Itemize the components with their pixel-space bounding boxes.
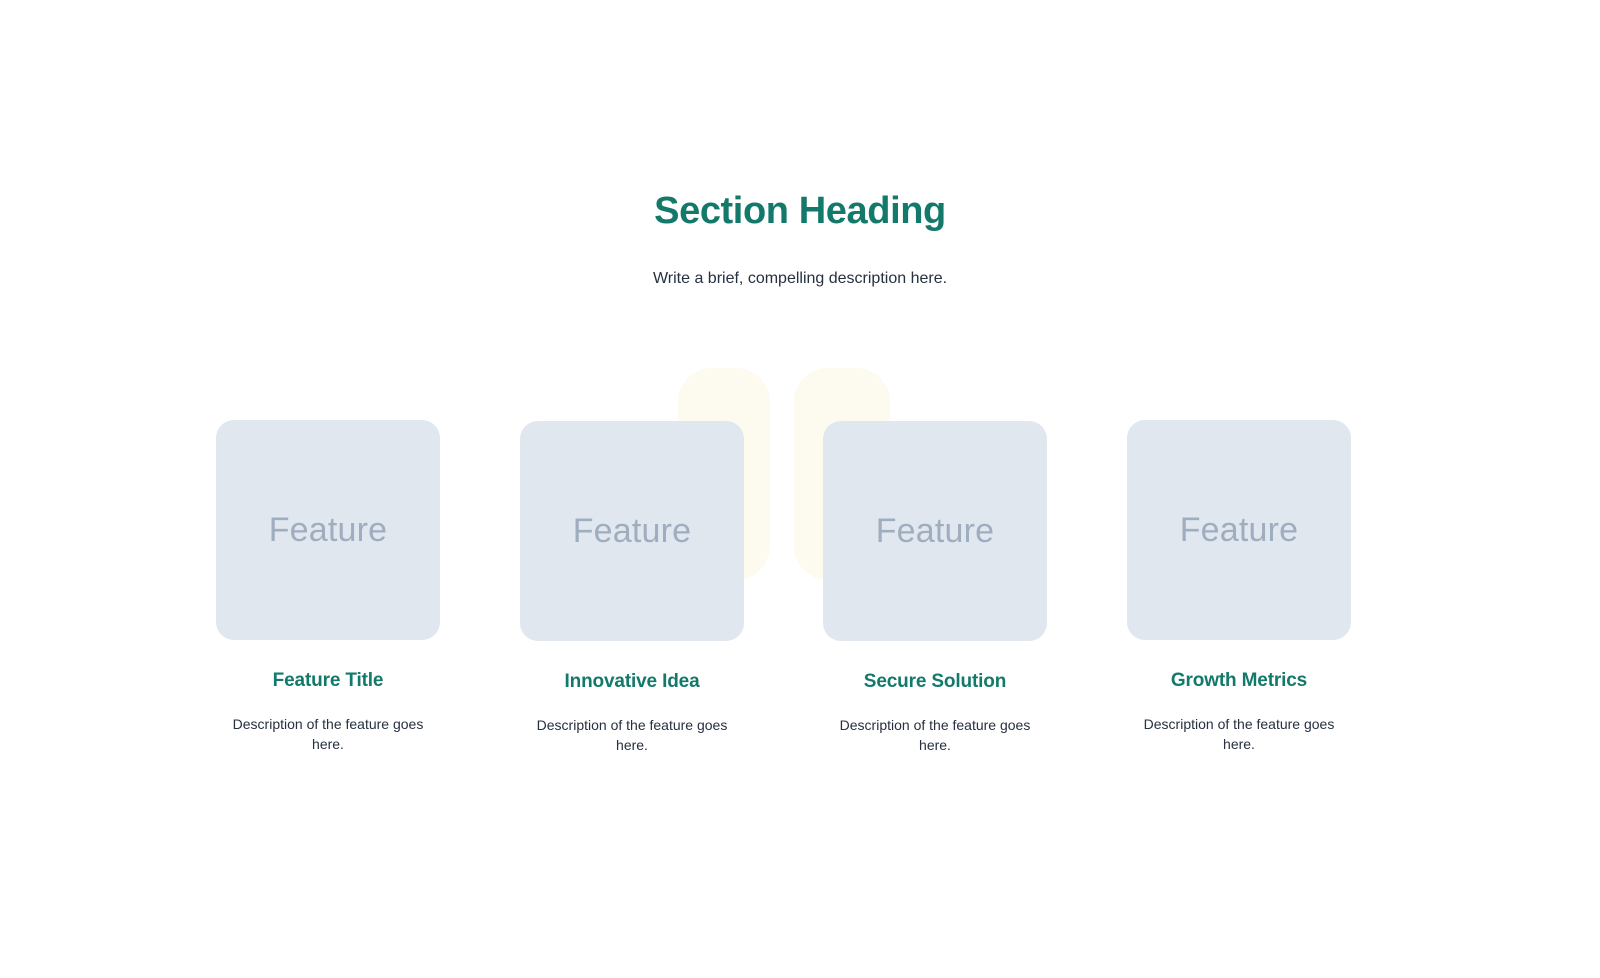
feature-image-label: Feature [269, 511, 388, 550]
feature-image-label: Feature [876, 512, 995, 551]
section-subtitle: Write a brief, compelling description he… [0, 236, 1600, 290]
feature-image-placeholder: Feature [216, 420, 440, 640]
feature-section-page: Section Heading Write a brief, compellin… [0, 0, 1600, 978]
feature-image-placeholder: Feature [1127, 420, 1351, 640]
feature-image-placeholder: Feature [823, 421, 1047, 641]
feature-card[interactable]: Feature Innovative Idea Description of t… [520, 421, 744, 755]
feature-image-label: Feature [1180, 511, 1299, 550]
feature-card[interactable]: Feature Secure Solution Description of t… [823, 421, 1047, 755]
feature-description: Description of the feature goes here. [1127, 694, 1351, 755]
feature-image-placeholder: Feature [520, 421, 744, 641]
feature-title: Secure Solution [823, 641, 1047, 695]
feature-card[interactable]: Feature Feature Title Description of the… [216, 420, 440, 754]
section-header: Section Heading Write a brief, compellin… [0, 188, 1600, 289]
feature-card[interactable]: Feature Growth Metrics Description of th… [1127, 420, 1351, 754]
feature-card-row: Feature Feature Title Description of the… [0, 0, 1600, 978]
feature-description: Description of the feature goes here. [823, 695, 1047, 756]
feature-description: Description of the feature goes here. [520, 695, 744, 756]
feature-title: Innovative Idea [520, 641, 744, 695]
page-title: Section Heading [0, 188, 1600, 236]
feature-description: Description of the feature goes here. [216, 694, 440, 755]
feature-title: Feature Title [216, 640, 440, 694]
feature-title: Growth Metrics [1127, 640, 1351, 694]
feature-image-label: Feature [573, 512, 692, 551]
